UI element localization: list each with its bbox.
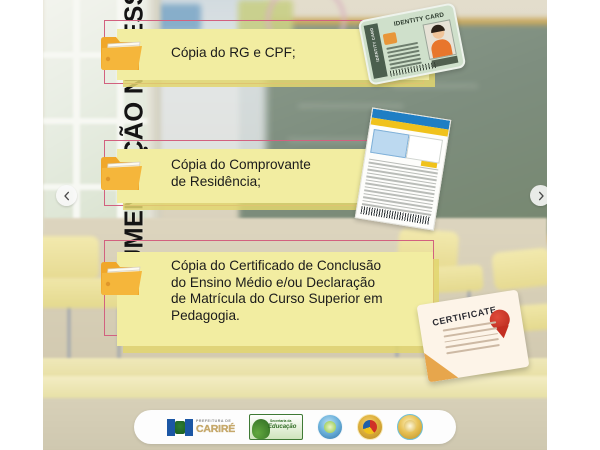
id-side-text: IDENTITY CARD bbox=[367, 21, 381, 69]
folder-icon bbox=[99, 256, 145, 296]
logo-seal-gold bbox=[397, 414, 423, 440]
foreground-desk-top bbox=[43, 376, 547, 398]
id-side-strip: IDENTITY CARD bbox=[364, 23, 388, 79]
id-chip-icon bbox=[383, 32, 398, 45]
certificate-lines bbox=[443, 321, 501, 358]
logo-line2: Educação bbox=[268, 424, 296, 430]
slide-viewport: DOCUMENTAÇÃO NECESSÁRIA Cópia do RG e CP… bbox=[0, 0, 600, 450]
chevron-right-icon bbox=[536, 191, 546, 201]
logo-prefeitura-carire: PREFEITURA DE CARIRÉ bbox=[167, 419, 235, 436]
logo-seal-blue bbox=[317, 414, 343, 440]
chevron-left-icon bbox=[62, 191, 72, 201]
item-text: Cópia do Certificado de Conclusão do Ens… bbox=[171, 258, 443, 324]
folder-icon bbox=[99, 151, 145, 191]
partner-logo-bar: PREFEITURA DE CARIRÉ Secretaria da Educa… bbox=[134, 410, 456, 444]
bill-summary-box bbox=[406, 135, 443, 164]
chair bbox=[491, 247, 547, 291]
carousel-slide: DOCUMENTAÇÃO NECESSÁRIA Cópia do RG e CP… bbox=[43, 0, 547, 450]
logo-line1: Secretaria da bbox=[270, 419, 291, 423]
logo-secretaria-educacao: Secretaria da Educação bbox=[249, 414, 303, 440]
bill-address-box bbox=[370, 129, 409, 158]
chair bbox=[43, 236, 99, 280]
logo-title: CARIRÉ bbox=[196, 424, 235, 435]
folder-icon bbox=[99, 31, 145, 71]
carousel-next-button[interactable] bbox=[530, 185, 547, 206]
id-photo bbox=[422, 19, 456, 60]
carire-flag-icon bbox=[167, 419, 193, 436]
carousel-prev-button[interactable] bbox=[56, 185, 77, 206]
logo-seal-red bbox=[357, 414, 383, 440]
certificate-image: CERTIFICATE bbox=[417, 290, 530, 383]
